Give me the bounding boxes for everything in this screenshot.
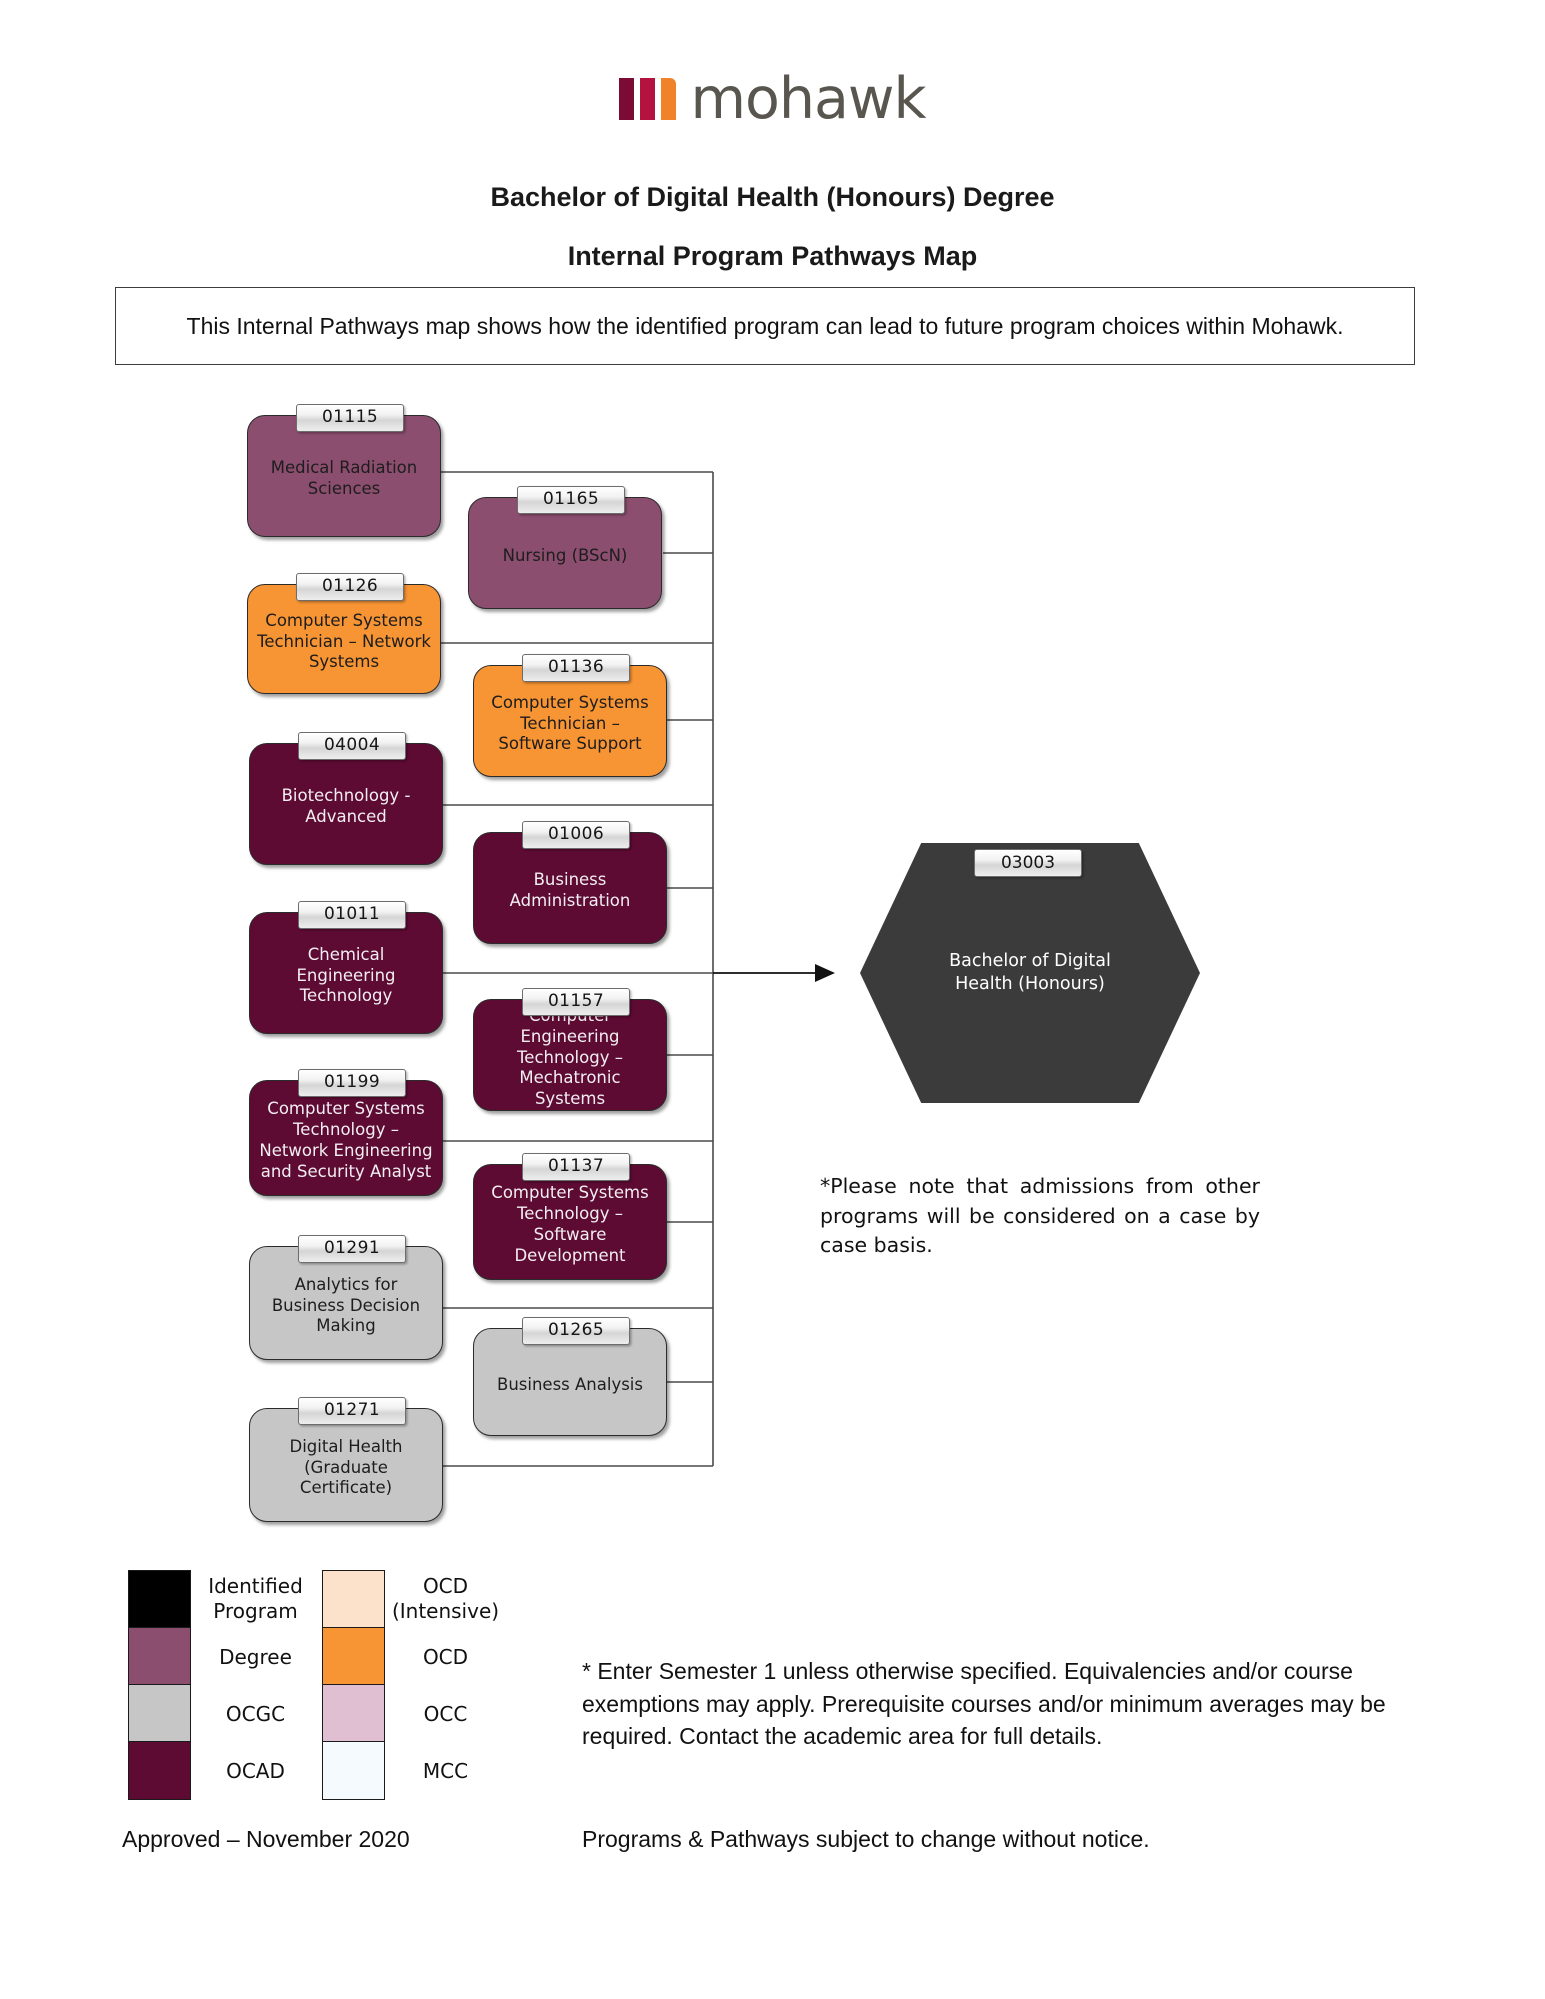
program-name: Computer Systems Technology – Network En… <box>258 1099 434 1183</box>
program-name: Analytics for Business Decision Making <box>258 1275 434 1338</box>
legend-swatches-left <box>128 1570 191 1800</box>
program-code-badge: 01271 <box>298 1397 406 1425</box>
program-node[interactable]: 01126 Computer Systems Technician – Netw… <box>247 584 441 694</box>
program-code-badge: 01199 <box>298 1069 406 1097</box>
program-code-badge: 01265 <box>522 1317 630 1345</box>
identified-program-name: Bachelor of Digital Health (Honours) <box>920 950 1140 996</box>
program-code-badge: 01165 <box>517 486 625 514</box>
legend-label: Degree <box>198 1645 313 1670</box>
program-node[interactable]: 01199 Computer Systems Technology – Netw… <box>249 1080 443 1196</box>
legend-swatch <box>129 1685 190 1742</box>
legend-swatch <box>129 1571 190 1628</box>
program-name: Business Analysis <box>482 1375 658 1396</box>
program-code-badge: 01157 <box>522 988 630 1016</box>
legend-label: OCD <box>388 1645 503 1670</box>
legend-swatch <box>129 1742 190 1799</box>
program-name: Biotechnology - Advanced <box>258 786 434 828</box>
program-code-badge: 01126 <box>296 573 404 601</box>
program-node[interactable]: 01137 Computer Systems Technology – Soft… <box>473 1164 667 1280</box>
program-code-badge: 01291 <box>298 1235 406 1263</box>
legend-swatches-right <box>322 1570 385 1800</box>
legend-swatch <box>129 1628 190 1685</box>
legend-label: OCAD <box>198 1759 313 1784</box>
program-code-badge: 01137 <box>522 1153 630 1181</box>
legend-label: OCC <box>388 1702 503 1727</box>
program-name: Computer Systems Technician – Network Sy… <box>256 611 432 674</box>
program-code-badge: 01115 <box>296 404 404 432</box>
legend-swatch <box>323 1742 384 1799</box>
legend-swatch <box>323 1571 384 1628</box>
approved-date: Approved – November 2020 <box>122 1826 410 1853</box>
program-node[interactable]: 04004 Biotechnology - Advanced <box>249 743 443 865</box>
identified-program-code-badge: 03003 <box>974 849 1082 877</box>
program-node[interactable]: 01115 Medical Radiation Sciences <box>247 415 441 537</box>
program-node[interactable]: 01291 Analytics for Business Decision Ma… <box>249 1246 443 1360</box>
program-name: Nursing (BScN) <box>477 546 653 567</box>
program-code-badge: 01136 <box>522 654 630 682</box>
program-node[interactable]: 01157 Computer Engineering Technology – … <box>473 999 667 1111</box>
program-name: Digital Health (Graduate Certificate) <box>258 1437 434 1500</box>
admissions-note: *Please note that admissions from other … <box>820 1172 1260 1261</box>
legend-label: OCGC <box>198 1702 313 1727</box>
program-node[interactable]: 01265 Business Analysis <box>473 1328 667 1436</box>
program-node[interactable]: 01165 Nursing (BScN) <box>468 497 662 609</box>
program-code-badge: 01006 <box>522 821 630 849</box>
enter-semester-footnote: * Enter Semester 1 unless otherwise spec… <box>582 1655 1424 1753</box>
identified-program-node[interactable]: Bachelor of Digital Health (Honours) <box>860 843 1200 1103</box>
legend-label: MCC <box>388 1759 503 1784</box>
legend-swatch <box>323 1628 384 1685</box>
arrow-to-target <box>713 964 835 982</box>
program-node[interactable]: 01271 Digital Health (Graduate Certifica… <box>249 1408 443 1522</box>
program-code-badge: 04004 <box>298 732 406 760</box>
legend-label: Identified Program <box>198 1574 313 1624</box>
program-name: Computer Systems Technology – Software D… <box>482 1183 658 1267</box>
subject-to-change-notice: Programs & Pathways subject to change wi… <box>582 1826 1150 1853</box>
program-code-badge: 01011 <box>298 901 406 929</box>
program-name: Business Administration <box>482 870 658 912</box>
program-name: Computer Engineering Technology – Mechat… <box>482 1006 658 1111</box>
program-node[interactable]: 01011 Chemical Engineering Technology <box>249 912 443 1034</box>
legend-label: OCD (Intensive) <box>388 1574 503 1624</box>
program-name: Computer Systems Technician – Software S… <box>482 693 658 756</box>
legend-swatch <box>323 1685 384 1742</box>
program-node[interactable]: 01006 Business Administration <box>473 832 667 944</box>
program-name: Chemical Engineering Technology <box>258 945 434 1008</box>
program-name: Medical Radiation Sciences <box>256 458 432 500</box>
program-node[interactable]: 01136 Computer Systems Technician – Soft… <box>473 665 667 777</box>
